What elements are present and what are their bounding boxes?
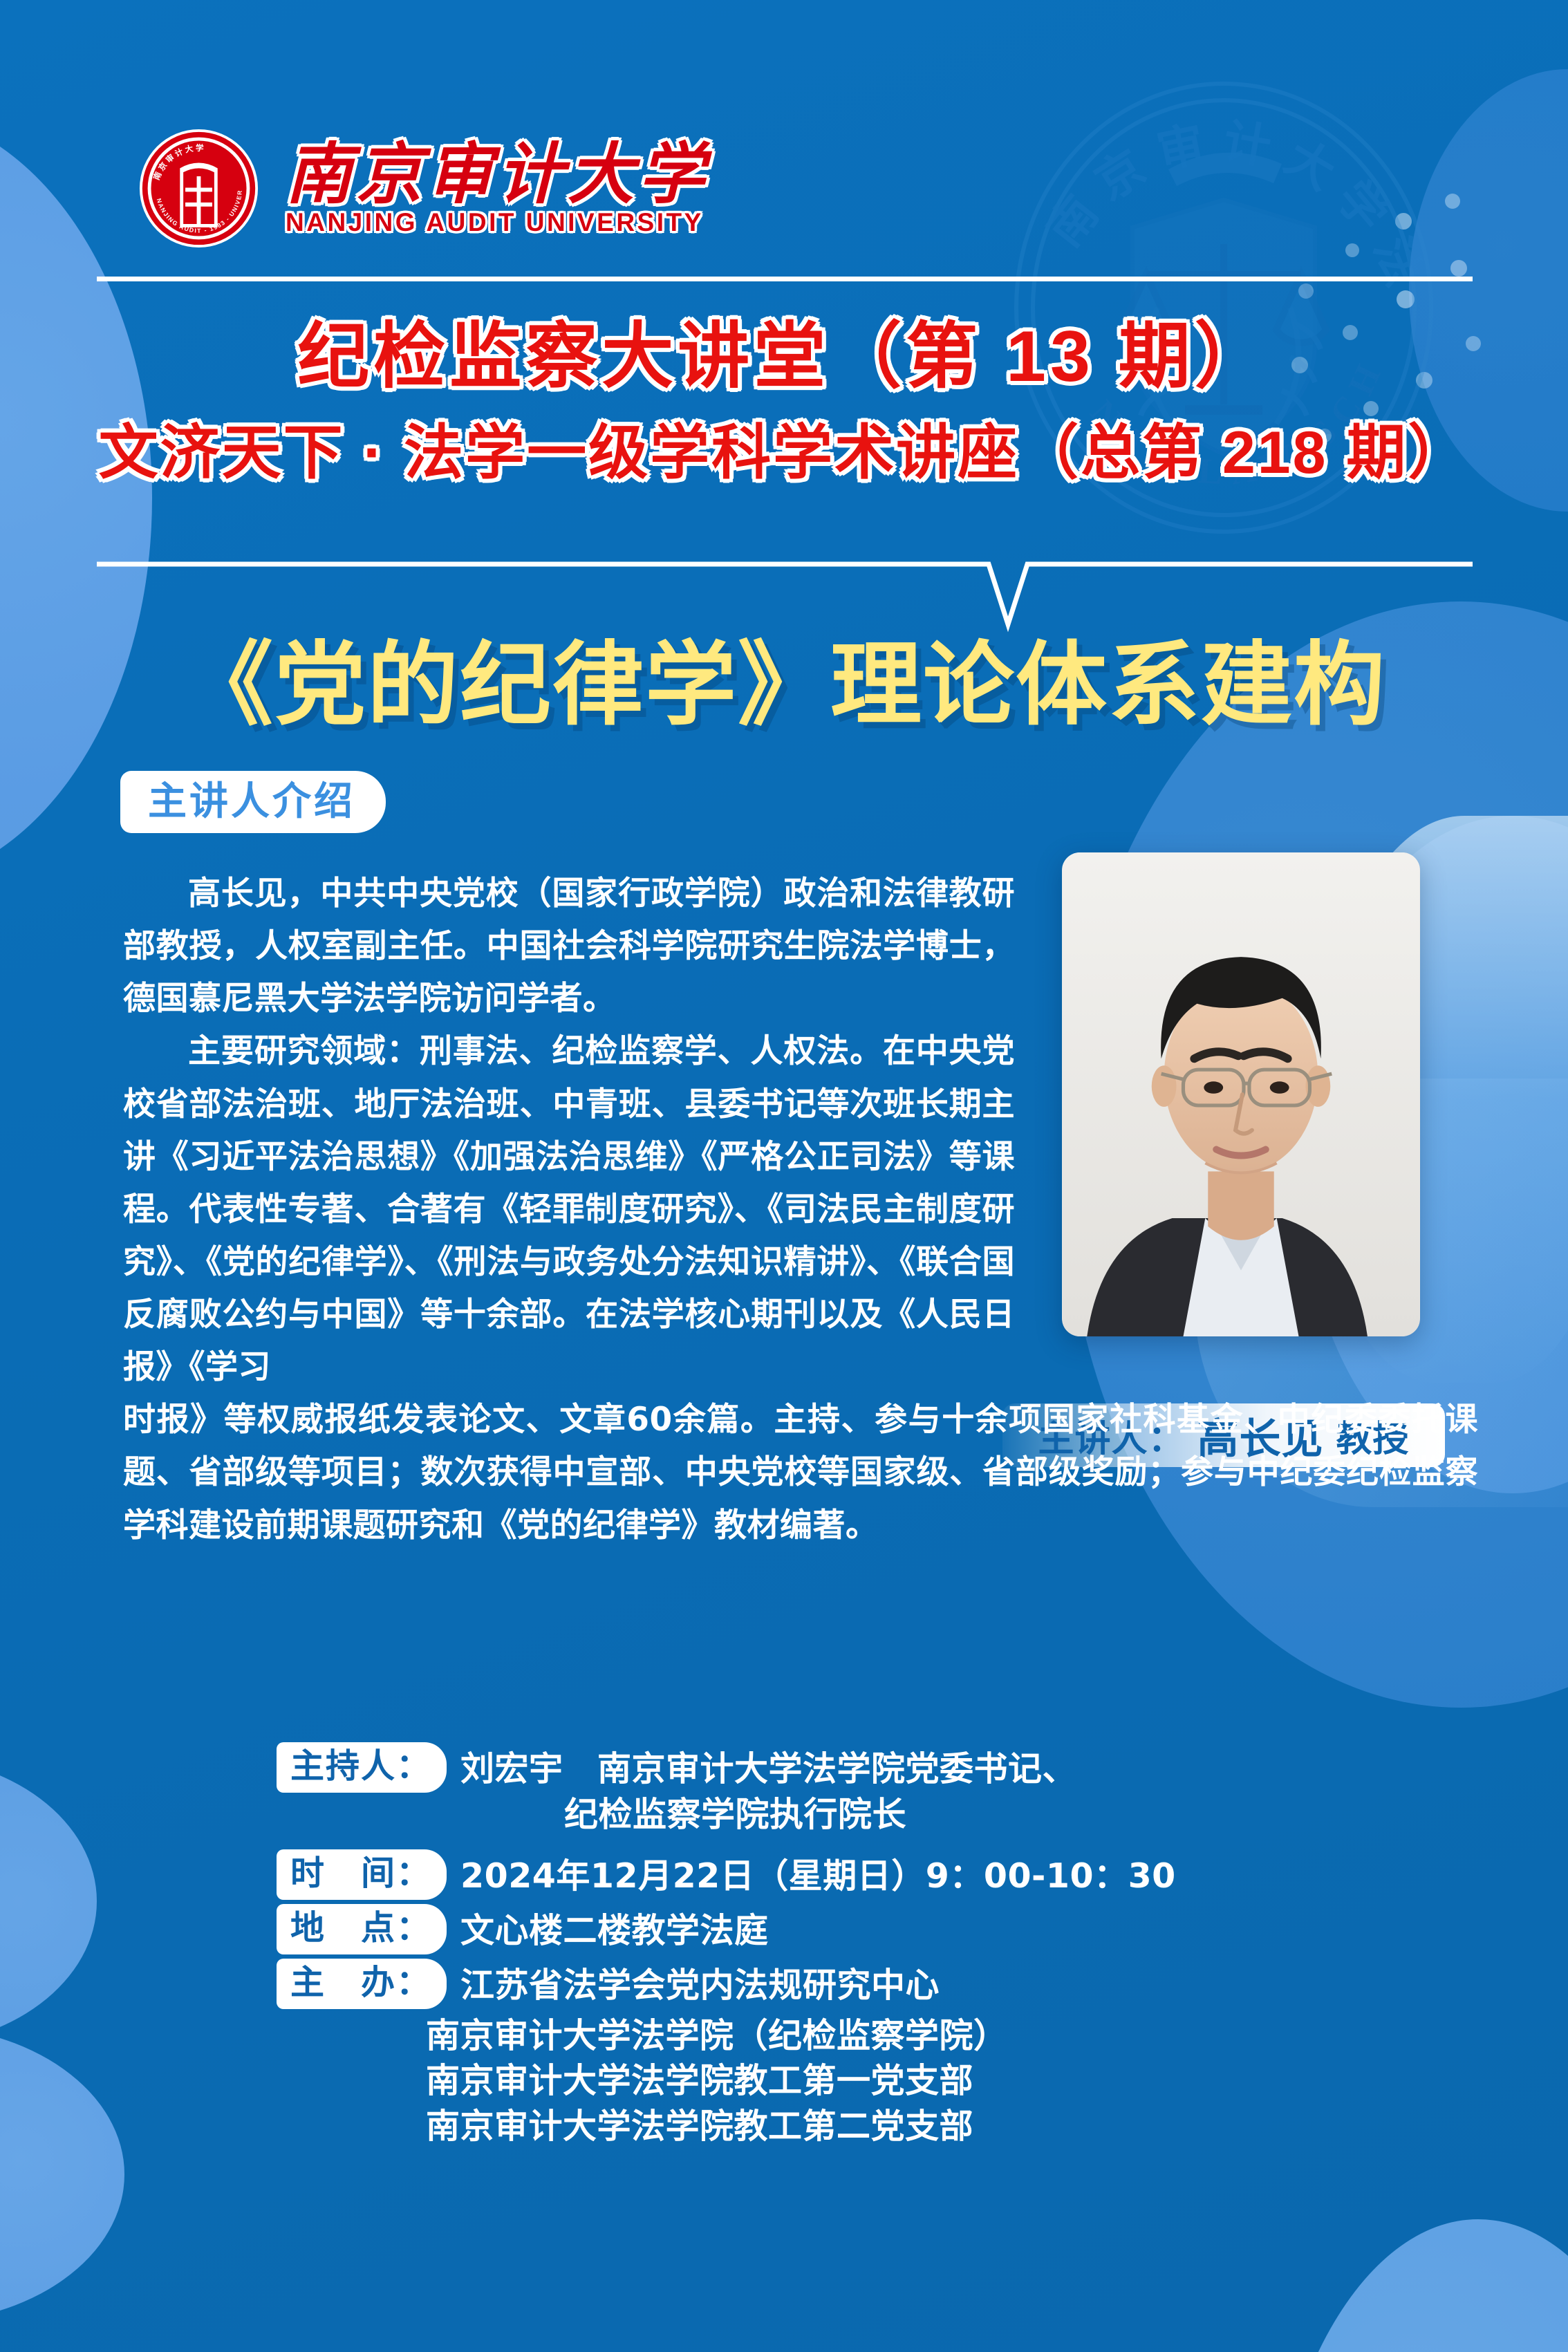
bio-paragraph-2b: 时报》等权威报纸发表论文、文章60余篇。主持、参与十余项国家社科基金、中纪委委托… [123,1394,1478,1551]
speaker-intro-tag: 主讲人介绍 [120,771,386,833]
university-name-en: NANJING AUDIT UNIVERSITY [286,209,709,235]
bio-paragraph-1: 高长见，中共中央党校（国家行政学院）政治和法律教研部教授，人权室副主任。中国社会… [123,868,1015,1025]
bio-paragraph-2a: 主要研究领域：刑事法、纪检监察学、人权法。在中央党校省部法治班、地厅法治班、中青… [123,1025,1015,1394]
decor-blob-bottom-right [1264,2219,1568,2352]
decor-blob-left-mid [0,1756,97,2046]
nau-seal-icon: 南京审计大学 NANJING AUDIT - 1983 - UNIVERSITY [138,128,259,249]
divider-rule-with-notch [97,559,1473,635]
detail-row-organizer: 主 办： 江苏省法学会党内法规研究中心 [277,1959,1452,2009]
speaker-biography: 高长见，中共中央党校（国家行政学院）政治和法律教研部教授，人权室副主任。中国社会… [123,868,1478,1552]
detail-value-time: 2024年12月22日（星期日）9：00-10：30 [460,1849,1176,1899]
university-logo-header: 南京审计大学 NANJING AUDIT - 1983 - UNIVERSITY… [138,128,709,249]
detail-value-organizer: 江苏省法学会党内法规研究中心 [460,1959,940,2008]
detail-label-host-person: 主持人： [277,1742,447,1793]
detail-value-host-person-line2: 纪检监察学院执行院长 [564,1792,1076,1838]
header-divider-rule [97,277,1473,281]
university-wordmark: 南京审计大学 NANJING AUDIT UNIVERSITY [286,142,709,235]
svg-text:南京审计大学法学院: 南京审计大学法学院 [1002,73,1436,306]
detail-row-host-person: 主持人： 刘宏宇 南京审计大学法学院党委书记、 纪检监察学院执行院长 [277,1742,1452,1837]
organizer-extra-2: 南京审计大学法学院教工第一党支部 [426,2058,1452,2104]
organizer-extra-3: 南京审计大学法学院教工第二党支部 [426,2104,1452,2149]
organizer-extra-1: 南京审计大学法学院（纪检监察学院） [426,2013,1452,2059]
decor-blob-top-left [0,111,152,885]
series-title-line1: 纪检监察大讲堂（第 13 期） [0,315,1568,400]
detail-row-place: 地 点： 文心楼二楼教学法庭 [277,1904,1452,1954]
detail-label-time: 时 间： [277,1849,447,1900]
event-details-block: 主持人： 刘宏宇 南京审计大学法学院党委书记、 纪检监察学院执行院长 时 间： … [277,1742,1452,2149]
event-title-block: 纪检监察大讲堂（第 13 期） 文济天下 · 法学一级学科学术讲座（总第 218… [0,315,1568,489]
decor-blob-left-lower [0,2026,124,2323]
detail-value-place: 文心楼二楼教学法庭 [460,1904,769,1954]
speaker-intro-tag-label: 主讲人介绍 [148,779,355,823]
detail-label-place: 地 点： [277,1904,447,1954]
detail-row-time: 时 间： 2024年12月22日（星期日）9：00-10：30 [277,1849,1452,1900]
poster-root: NAU LAW SCHOOL 南京审计大学法学院 [0,0,1568,2352]
series-title-line2: 文济天下 · 法学一级学科学术讲座（总第 218 期） [0,418,1568,489]
detail-label-organizer: 主 办： [277,1959,447,2009]
lecture-headline: 《党的纪律学》理论体系建构 [0,640,1568,731]
university-name-cn: 南京审计大学 [286,142,709,208]
detail-value-host-person: 刘宏宇 南京审计大学法学院党委书记、 纪检监察学院执行院长 [460,1742,1076,1837]
